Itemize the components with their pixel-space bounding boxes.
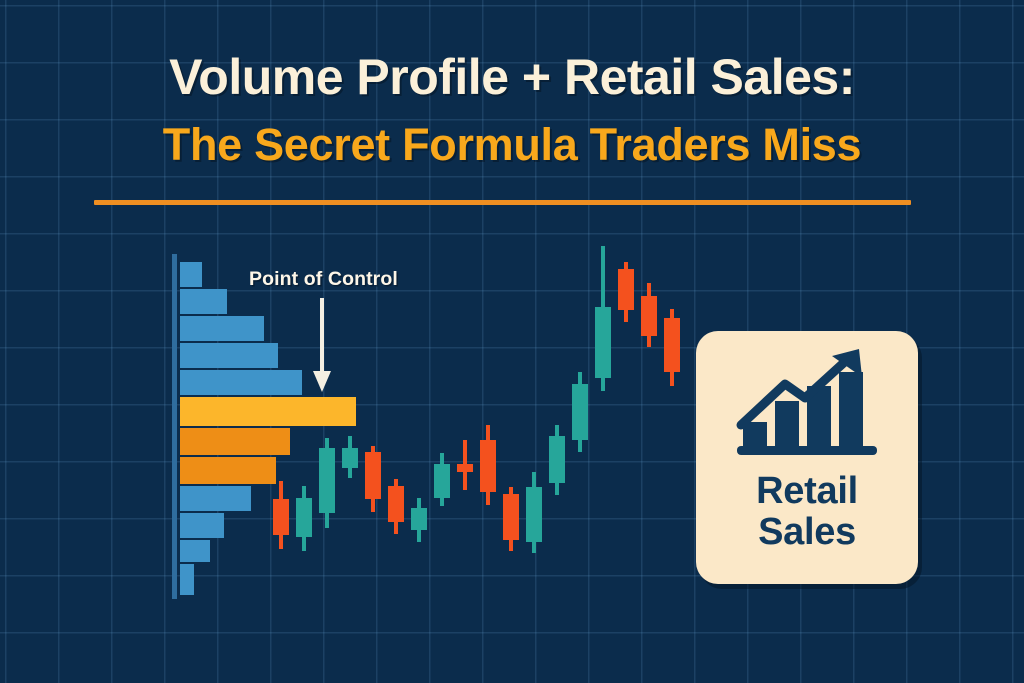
volume-profile-bar: [180, 513, 224, 538]
candlestick: [549, 425, 565, 495]
volume-profile-bar: [180, 457, 276, 484]
infographic-canvas: Volume Profile + Retail Sales: The Secre…: [0, 0, 1024, 683]
volume-profile-bar: [180, 486, 251, 511]
point-of-control-arrow-icon: [313, 298, 331, 392]
badge-word-sales: Sales: [756, 512, 858, 553]
volume-profile-bar: [180, 428, 290, 455]
volume-profile-bars: [180, 262, 356, 595]
volume-profile-bar: [180, 289, 227, 314]
candlestick: [319, 438, 335, 528]
candlestick: [664, 309, 680, 386]
volume-profile-bar: [180, 564, 194, 595]
candlestick: [273, 481, 289, 549]
volume-profile-bar: [180, 397, 356, 426]
candlestick: [365, 446, 381, 512]
volume-profile-bar: [180, 262, 202, 287]
candlestick: [480, 425, 496, 505]
volume-profile-bar: [180, 343, 278, 368]
candlestick: [342, 436, 358, 478]
badge-word-retail: Retail: [756, 471, 858, 512]
candlestick: [388, 479, 404, 534]
retail-sales-badge[interactable]: Retail Sales: [696, 331, 918, 584]
volume-profile-axis: [172, 254, 177, 599]
volume-profile-bar: [180, 316, 264, 341]
candlestick: [296, 486, 312, 551]
candlestick: [618, 262, 634, 322]
growth-bar-chart-arrow-icon: [733, 345, 881, 469]
retail-sales-badge-text: Retail Sales: [756, 471, 858, 553]
candlestick: [411, 498, 427, 542]
candlestick: [595, 246, 611, 391]
volume-profile-bar: [180, 540, 210, 562]
candlestick: [503, 487, 519, 551]
candlestick: [434, 453, 450, 506]
candlestick: [641, 283, 657, 347]
candlestick: [572, 372, 588, 452]
point-of-control-label: Point of Control: [249, 268, 398, 291]
volume-profile-bar: [180, 370, 302, 395]
candlestick: [526, 472, 542, 553]
candlestick: [457, 440, 473, 490]
